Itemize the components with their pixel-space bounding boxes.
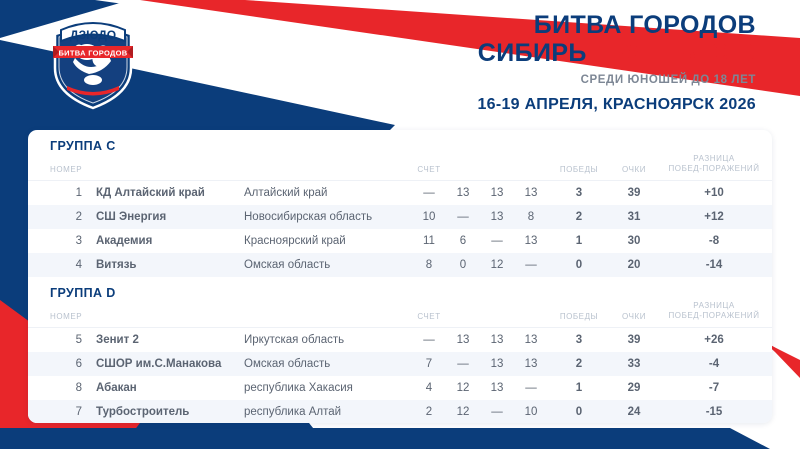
cell-team: СШ Энергия [96, 205, 244, 229]
cell-points: 20 [610, 253, 658, 277]
col-header-diff-line2: ПОБЕД-ПОРАЖЕНИЙ [658, 164, 770, 174]
cell-region: Красноярский край [244, 229, 412, 253]
cell-points: 29 [610, 376, 658, 400]
cell-score-4: 13 [514, 229, 548, 253]
cell-region: республика Алтай [244, 400, 412, 423]
cell-score-4: 10 [514, 400, 548, 423]
cell-team: Турбостроитель [96, 400, 244, 423]
cell-score-1: 2 [412, 400, 446, 423]
cell-region: Иркутская область [244, 328, 412, 353]
cell-points: 24 [610, 400, 658, 423]
group-block-d: ГРУППА D НОМЕР СЧЕТ ПОБЕДЫ ОЧКИ Р [28, 277, 772, 423]
col-header-score-4 [514, 301, 548, 328]
cell-diff: -7 [658, 376, 770, 400]
judo-emblem: ДЗЮДО БИТВА ГОРОДОВ [45, 8, 141, 112]
title-line-2-prefix: СИБИРЬ [478, 39, 594, 67]
table-row[interactable]: 6 СШОР им.С.Манакова Омская область 7 — … [28, 352, 772, 376]
col-header-score-4 [514, 154, 548, 181]
cell-wins: 2 [548, 205, 610, 229]
cell-score-2: 6 [446, 229, 480, 253]
table-row[interactable]: 7 Турбостроитель республика Алтай 2 12 —… [28, 400, 772, 423]
col-header-place: МЕСТО [770, 154, 772, 181]
cell-number: 1 [28, 181, 96, 206]
cell-diff: +12 [658, 205, 770, 229]
cell-wins: 0 [548, 253, 610, 277]
col-header-diff-line1: РАЗНИЦА [658, 301, 770, 311]
cell-wins: 1 [548, 229, 610, 253]
cell-score-3: — [480, 229, 514, 253]
group-title-c: ГРУППА C [28, 130, 772, 154]
cell-wins: 3 [548, 328, 610, 353]
standings-table-d: НОМЕР СЧЕТ ПОБЕДЫ ОЧКИ РАЗНИЦА ПОБЕД-ПОР… [28, 301, 772, 423]
cell-place: 1 [770, 181, 772, 206]
cell-score-1: 10 [412, 205, 446, 229]
title-line-1: БИТВА ГОРОДОВ [477, 12, 756, 38]
cell-score-1: 11 [412, 229, 446, 253]
col-header-points: ОЧКИ [610, 301, 658, 328]
cell-place: 3 [770, 376, 772, 400]
cell-score-3: 13 [480, 352, 514, 376]
col-header-team [96, 301, 244, 328]
col-header-region [244, 301, 412, 328]
cell-points: 31 [610, 205, 658, 229]
cell-score-3: 13 [480, 328, 514, 353]
cell-team: СШОР им.С.Манакова [96, 352, 244, 376]
title-line-2-accent: ГРУППЫ C-D [594, 39, 756, 67]
cell-region: Омская область [244, 352, 412, 376]
cell-wins: 2 [548, 352, 610, 376]
cell-score-1: — [412, 328, 446, 353]
standings-card: ГРУППА C НОМЕР СЧЕТ ПОБЕДЫ ОЧКИ Р [28, 130, 772, 423]
group-title-d: ГРУППА D [28, 277, 772, 301]
cell-diff: -4 [658, 352, 770, 376]
cell-score-4: 13 [514, 181, 548, 206]
cell-number: 5 [28, 328, 96, 353]
col-header-score: СЧЕТ [412, 154, 446, 181]
cell-number: 6 [28, 352, 96, 376]
cell-score-2: 12 [446, 400, 480, 423]
col-header-wins: ПОБЕДЫ [548, 154, 610, 181]
emblem-ribbon-text: БИТВА ГОРОДОВ [58, 49, 127, 58]
col-header-score-3 [480, 154, 514, 181]
col-header-points: ОЧКИ [610, 154, 658, 181]
cell-score-4: — [514, 376, 548, 400]
table-body-d: 5 Зенит 2 Иркутская область — 13 13 13 3… [28, 328, 772, 424]
cell-points: 39 [610, 328, 658, 353]
poster-subtitle: СРЕДИ ЮНОШЕЙ ДО 18 ЛЕТ [477, 75, 756, 87]
cell-place: 1 [770, 328, 772, 353]
col-header-number: НОМЕР [28, 301, 96, 328]
cell-score-2: 0 [446, 253, 480, 277]
cell-number: 7 [28, 400, 96, 423]
table-row[interactable]: 1 КД Алтайский край Алтайский край — 13 … [28, 181, 772, 206]
poster-canvas: ДЗЮДО БИТВА ГОРОДОВ БИТВА ГОРОДОВ СИБИРЬ… [0, 0, 800, 449]
col-header-number: НОМЕР [28, 154, 96, 181]
cell-score-1: 4 [412, 376, 446, 400]
col-header-diff: РАЗНИЦА ПОБЕД-ПОРАЖЕНИЙ [658, 301, 770, 328]
col-header-score-3 [480, 301, 514, 328]
cell-points: 39 [610, 181, 658, 206]
cell-score-2: 13 [446, 181, 480, 206]
table-row[interactable]: 4 Витязь Омская область 8 0 12 — 0 20 -1… [28, 253, 772, 277]
cell-points: 33 [610, 352, 658, 376]
cell-score-3: 13 [480, 376, 514, 400]
cell-diff: +26 [658, 328, 770, 353]
col-header-diff: РАЗНИЦА ПОБЕД-ПОРАЖЕНИЙ [658, 154, 770, 181]
header-row: НОМЕР СЧЕТ ПОБЕДЫ ОЧКИ РАЗНИЦА ПОБЕД-ПОР… [28, 154, 772, 181]
col-header-wins: ПОБЕДЫ [548, 301, 610, 328]
cell-points: 30 [610, 229, 658, 253]
table-row[interactable]: 2 СШ Энергия Новосибирская область 10 — … [28, 205, 772, 229]
cell-score-2: — [446, 205, 480, 229]
cell-number: 8 [28, 376, 96, 400]
cell-team: Абакан [96, 376, 244, 400]
cell-diff: -15 [658, 400, 770, 423]
cell-number: 2 [28, 205, 96, 229]
cell-score-3: — [480, 400, 514, 423]
cell-wins: 3 [548, 181, 610, 206]
col-header-score: СЧЕТ [412, 301, 446, 328]
table-row[interactable]: 8 Абакан республика Хакасия 4 12 13 — 1 … [28, 376, 772, 400]
cell-team: Академия [96, 229, 244, 253]
cell-score-1: — [412, 181, 446, 206]
cell-team: Витязь [96, 253, 244, 277]
cell-score-4: — [514, 253, 548, 277]
cell-score-1: 8 [412, 253, 446, 277]
emblem-top-banner-text: ДЗЮДО [70, 28, 116, 42]
cell-score-4: 8 [514, 205, 548, 229]
group-block-c: ГРУППА C НОМЕР СЧЕТ ПОБЕДЫ ОЧКИ Р [28, 130, 772, 277]
table-row[interactable]: 3 Академия Красноярский край 11 6 — 13 1… [28, 229, 772, 253]
cell-place: 3 [770, 229, 772, 253]
col-header-score-2 [446, 154, 480, 181]
cell-score-3: 13 [480, 205, 514, 229]
cell-place: 2 [770, 352, 772, 376]
table-row[interactable]: 5 Зенит 2 Иркутская область — 13 13 13 3… [28, 328, 772, 353]
cell-region: республика Хакасия [244, 376, 412, 400]
col-header-region [244, 154, 412, 181]
cell-team: КД Алтайский край [96, 181, 244, 206]
title-line-2: СИБИРЬ ГРУППЫ C-D [477, 40, 756, 66]
cell-score-2: — [446, 352, 480, 376]
cell-region: Омская область [244, 253, 412, 277]
col-header-team [96, 154, 244, 181]
cell-score-4: 13 [514, 352, 548, 376]
col-header-score-2 [446, 301, 480, 328]
cell-number: 4 [28, 253, 96, 277]
table-body-c: 1 КД Алтайский край Алтайский край — 13 … [28, 181, 772, 278]
table-head-c: НОМЕР СЧЕТ ПОБЕДЫ ОЧКИ РАЗНИЦА ПОБЕД-ПОР… [28, 154, 772, 181]
header-row: НОМЕР СЧЕТ ПОБЕДЫ ОЧКИ РАЗНИЦА ПОБЕД-ПОР… [28, 301, 772, 328]
cell-place: 4 [770, 253, 772, 277]
col-header-diff-line2: ПОБЕД-ПОРАЖЕНИЙ [658, 311, 770, 321]
cell-place: 2 [770, 205, 772, 229]
cell-diff: +10 [658, 181, 770, 206]
cell-score-4: 13 [514, 328, 548, 353]
cell-region: Новосибирская область [244, 205, 412, 229]
cell-wins: 1 [548, 376, 610, 400]
cell-score-2: 13 [446, 328, 480, 353]
col-header-place: МЕСТО [770, 301, 772, 328]
judo-shield-icon: ДЗЮДО БИТВА ГОРОДОВ [45, 8, 141, 112]
cell-team: Зенит 2 [96, 328, 244, 353]
cell-score-3: 13 [480, 181, 514, 206]
cell-score-1: 7 [412, 352, 446, 376]
cell-diff: -14 [658, 253, 770, 277]
cell-wins: 0 [548, 400, 610, 423]
col-header-diff-line1: РАЗНИЦА [658, 154, 770, 164]
cell-diff: -8 [658, 229, 770, 253]
table-head-d: НОМЕР СЧЕТ ПОБЕДЫ ОЧКИ РАЗНИЦА ПОБЕД-ПОР… [28, 301, 772, 328]
navy-bar-bottom [0, 428, 770, 449]
poster-date-location: 16-19 АПРЕЛЯ, КРАСНОЯРСК 2026 [477, 97, 756, 114]
cell-score-2: 12 [446, 376, 480, 400]
cell-score-3: 12 [480, 253, 514, 277]
standings-table-c: НОМЕР СЧЕТ ПОБЕДЫ ОЧКИ РАЗНИЦА ПОБЕД-ПОР… [28, 154, 772, 277]
cell-number: 3 [28, 229, 96, 253]
poster-title-block: БИТВА ГОРОДОВ СИБИРЬ ГРУППЫ C-D СРЕДИ ЮН… [477, 12, 756, 114]
cell-region: Алтайский край [244, 181, 412, 206]
